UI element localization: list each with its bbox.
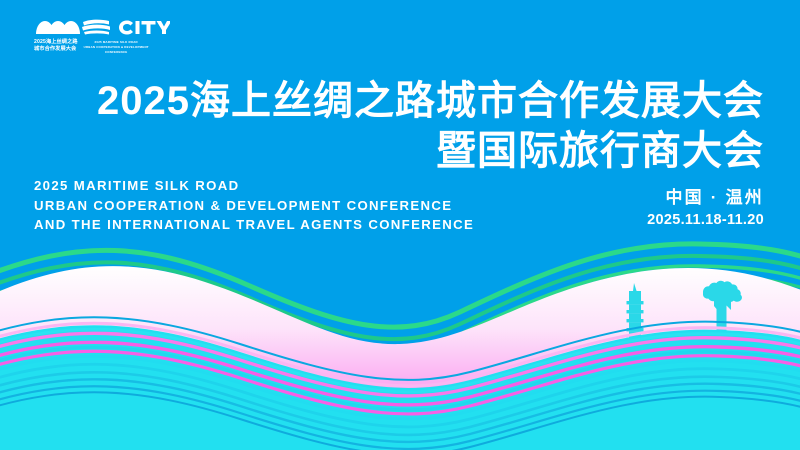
english-subtitle: 2025 MARITIME SILK ROAD URBAN COOPERATIO… (34, 176, 474, 235)
logo-caption-english: 2025 MARITIME SILK ROAD URBAN COOPERATIO… (84, 39, 149, 54)
logo-caption-cn-line2: 城市合作发展大会 (34, 46, 78, 53)
mscity-wordmark-icon (34, 12, 170, 36)
subtitle-line3: AND THE INTERNATIONAL TRAVEL AGENTS CONF… (34, 215, 474, 235)
subtitle-line1: 2025 MARITIME SILK ROAD (34, 176, 474, 196)
event-date: 2025.11.18-11.20 (647, 210, 764, 230)
logo-caption-en-line2: URBAN COOPERATION & DEVELOPMENT (84, 44, 149, 49)
event-logo-lockup: 2025海上丝绸之路 城市合作发展大会 2025 MARITIME SILK R… (34, 12, 184, 58)
main-title-line2: 暨国际旅行商大会 (97, 126, 764, 176)
logo-caption-row: 2025海上丝绸之路 城市合作发展大会 2025 MARITIME SILK R… (34, 39, 184, 54)
main-title: 2025海上丝绸之路城市合作发展大会 暨国际旅行商大会 (97, 76, 764, 176)
subtitle-line2: URBAN COOPERATION & DEVELOPMENT CONFEREN… (34, 196, 474, 216)
event-meta: 中国 · 温州 2025.11.18-11.20 (647, 186, 764, 230)
logo-caption-cn-line1: 2025海上丝绸之路 (34, 39, 78, 46)
main-title-line1: 2025海上丝绸之路城市合作发展大会 (97, 76, 764, 126)
event-location: 中国 · 温州 (647, 186, 764, 209)
logo-caption-en-line3: CONFERENCE (84, 49, 149, 54)
logo-caption-chinese: 2025海上丝绸之路 城市合作发展大会 (34, 39, 78, 52)
conference-banner: 2025海上丝绸之路 城市合作发展大会 2025 MARITIME SILK R… (0, 0, 800, 450)
